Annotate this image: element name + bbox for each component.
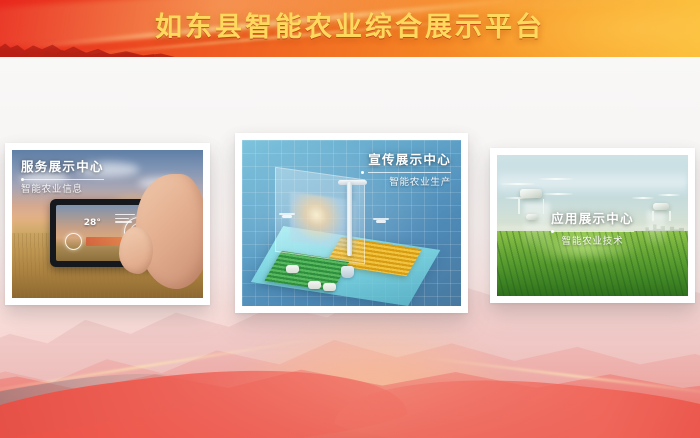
card-application-subtitle: 智能农业技术 [497,235,688,248]
card-application-text-block: 应用展示中心 智能农业技术 [497,211,688,248]
card-application-title: 应用展示中心 [497,211,688,227]
drone-rotor [543,193,573,195]
card-service-title: 服务展示中心 [21,159,104,175]
hud-small-ring-icon [65,233,82,250]
drone-rotor [632,197,654,199]
drone-icon [279,213,295,219]
card-service-image: 28° 服务展示中心 智能农业信息 [12,150,203,298]
app-root: 如东县智能农业综合展示平台 28° [0,0,700,438]
card-promotion-text-block: 宣传展示中心 智能农业生产 [368,152,451,189]
header-banner: 如东县智能农业综合展示平台 [0,0,700,57]
card-promotion-title: 宣传展示中心 [368,152,451,168]
card-promotion-divider [368,172,451,173]
iso-hay-roll [323,283,336,291]
hud-info-chip [86,237,122,246]
drone-icon [653,203,669,210]
weather-temperature: 28° [84,218,101,228]
card-service-display-center[interactable]: 28° 服务展示中心 智能农业信息 [5,143,210,305]
card-promotion-subtitle: 智能农业生产 [368,176,451,189]
thumb [119,227,153,274]
card-promotion-display-center[interactable]: 宣传展示中心 智能农业生产 [235,133,468,313]
iso-sky-projection [290,192,356,251]
card-service-text-block: 服务展示中心 智能农业信息 [21,159,104,196]
card-promotion-image: 宣传展示中心 智能农业生产 [242,140,461,306]
card-application-image: 应用展示中心 智能农业技术 [497,155,688,296]
card-application-divider [552,231,634,232]
iso-water-tank [341,266,354,278]
drone-rotor [501,183,535,185]
card-application-display-center[interactable]: 应用展示中心 智能农业技术 [490,148,695,303]
drone-icon [520,189,542,198]
page-title: 如东县智能农业综合展示平台 [0,9,700,47]
drone-icon [373,218,389,224]
drone-rotor [539,178,573,180]
iso-hay-roll [308,281,321,289]
iso-hay-roll [286,265,299,273]
card-service-divider [21,179,104,180]
card-service-subtitle: 智能农业信息 [21,183,104,196]
iso-sensor-pole [347,182,352,257]
iso-sensor-arm [338,180,366,185]
